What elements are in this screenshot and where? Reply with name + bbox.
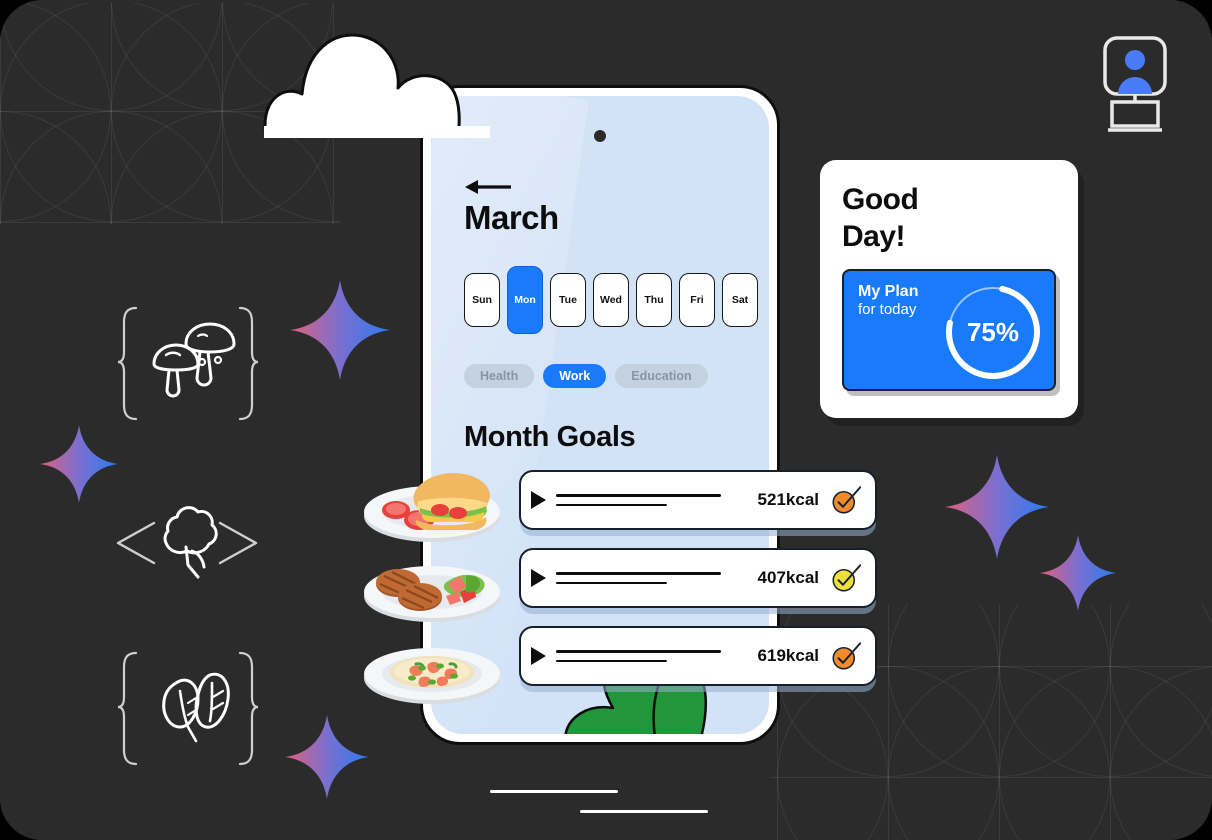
progress-percent-label: 75%: [940, 279, 1046, 385]
day-chip-mon[interactable]: Mon: [507, 266, 543, 334]
goal-text-placeholder: [556, 650, 748, 662]
play-triangle-icon: [531, 647, 546, 665]
mushrooms-icon-group: [118, 300, 258, 425]
decor-line: [490, 790, 618, 793]
camera-dot: [594, 130, 606, 142]
my-plan-panel[interactable]: My Plan for today 75%: [842, 269, 1056, 391]
goal-text-placeholder: [556, 494, 748, 506]
day-chip-sun[interactable]: Sun: [464, 273, 500, 327]
goal-kcal-value: 619kcal: [758, 646, 819, 666]
category-pill-work[interactable]: Work: [543, 364, 606, 388]
sparkle-icon: [290, 280, 390, 380]
good-day-title-line1: Good: [842, 182, 1056, 219]
progress-ring: 75%: [940, 279, 1046, 385]
monitor-person-icon[interactable]: [1100, 36, 1170, 137]
category-filter[interactable]: Health Work Education: [464, 364, 708, 388]
goal-kcal-value: 521kcal: [758, 490, 819, 510]
broccoli-icon-group: [112, 495, 262, 590]
sparkle-icon: [285, 715, 369, 799]
goal-kcal-value: 407kcal: [758, 568, 819, 588]
sparkle-icon: [945, 455, 1049, 559]
goal-row[interactable]: 521kcal: [519, 470, 877, 530]
dark-canvas: March Sun Mon Tue Wed Thu Fri Sat Health…: [0, 0, 1212, 840]
spinach-leaves-icon-group: [118, 645, 258, 770]
check-circle-icon[interactable]: [831, 563, 861, 593]
category-pill-education[interactable]: Education: [615, 364, 707, 388]
check-circle-icon[interactable]: [831, 641, 861, 671]
pasta-shrimp-plate-icon: [362, 620, 502, 706]
good-day-title-line2: Day!: [842, 219, 1056, 256]
sandwich-plate-icon: [362, 458, 502, 544]
play-triangle-icon: [531, 569, 546, 587]
sparkle-icon: [1040, 535, 1116, 611]
good-day-title: Good Day!: [842, 182, 1056, 255]
bottom-decor-lines: [490, 790, 710, 813]
day-chip-wed[interactable]: Wed: [593, 273, 629, 327]
cloud-shape: [262, 30, 492, 140]
day-chip-thu[interactable]: Thu: [636, 273, 672, 327]
day-selector[interactable]: Sun Mon Tue Wed Thu Fri Sat: [464, 266, 758, 334]
good-day-card: Good Day! My Plan for today 75%: [820, 160, 1078, 418]
decor-line: [580, 810, 708, 813]
page-title: March: [464, 199, 559, 237]
section-title-month-goals: Month Goals: [464, 421, 635, 454]
goal-row[interactable]: 619kcal: [519, 626, 877, 686]
day-chip-tue[interactable]: Tue: [550, 273, 586, 327]
goal-row[interactable]: 407kcal: [519, 548, 877, 608]
category-pill-health[interactable]: Health: [464, 364, 534, 388]
day-chip-sat[interactable]: Sat: [722, 273, 758, 327]
goal-text-placeholder: [556, 572, 748, 584]
screenshot-root: March Sun Mon Tue Wed Thu Fri Sat Health…: [0, 0, 1212, 840]
arrow-left-icon[interactable]: [465, 179, 513, 195]
sparkle-icon: [40, 425, 118, 503]
check-circle-icon[interactable]: [831, 485, 861, 515]
steak-salad-plate-icon: [362, 540, 502, 626]
play-triangle-icon: [531, 491, 546, 509]
day-chip-fri[interactable]: Fri: [679, 273, 715, 327]
